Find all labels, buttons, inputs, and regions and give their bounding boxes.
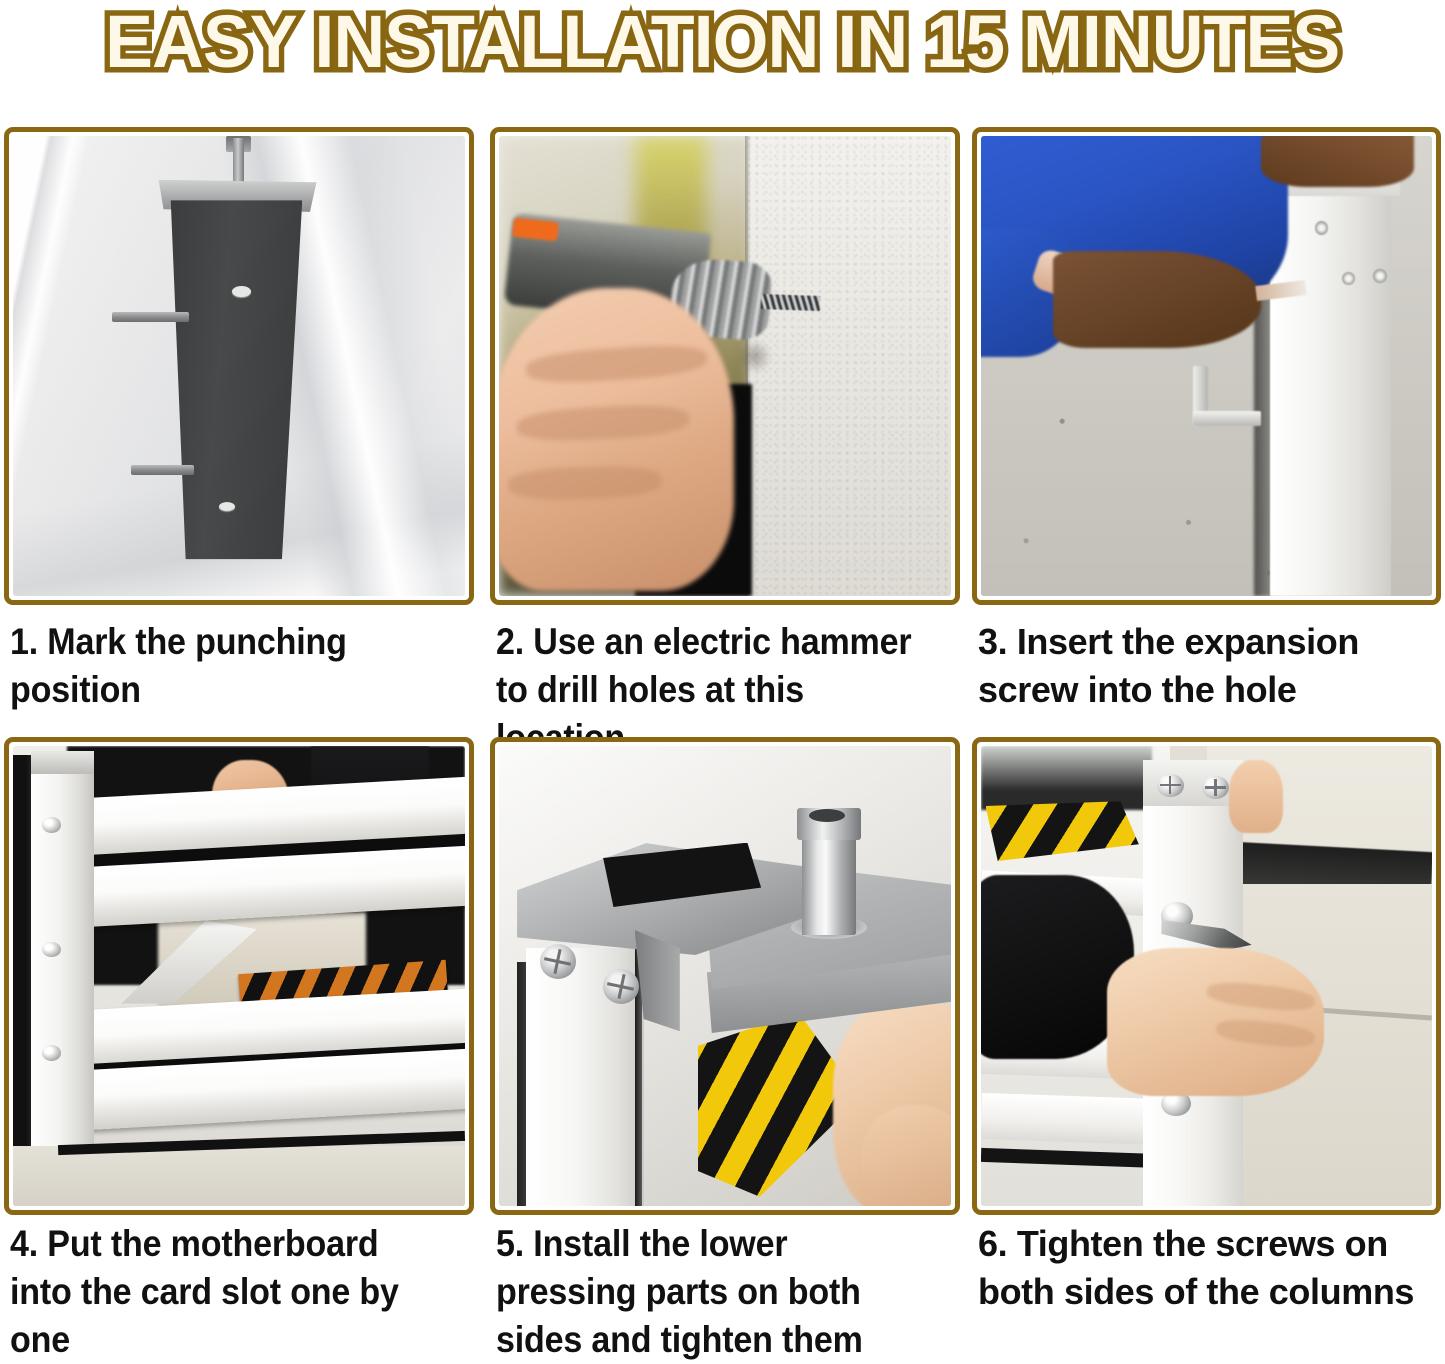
- floor-area: [13, 1146, 465, 1206]
- forearm-shape: [1053, 251, 1260, 348]
- step-3-photo-frame[interactable]: [972, 127, 1441, 605]
- step-card-3: 3. Insert the expansion screw into the h…: [972, 118, 1441, 728]
- mounting-hole-lower: [219, 502, 235, 511]
- stud-upper-shape: [112, 312, 189, 322]
- drill-bit-shape: [761, 294, 820, 311]
- top-screw-2: [1202, 776, 1229, 799]
- hand-shape: [1107, 948, 1323, 1095]
- column-post-shape: [31, 755, 94, 1178]
- step-card-5: 5. Install the lower pressing parts on b…: [490, 728, 960, 1352]
- steps-row-2: 4. Put the motherboard into the card slo…: [0, 728, 1445, 1352]
- page-title: EASY INSTALLATION IN 15 MINUTES: [105, 4, 1339, 80]
- fingers-shape: [861, 1105, 951, 1206]
- mounting-hole-upper: [232, 286, 251, 297]
- step-6-photo-tighten-screws: [981, 746, 1432, 1206]
- step-3-photo-expansion-screw: [981, 136, 1432, 596]
- step-3-caption: 3. Insert the expansion screw into the h…: [978, 618, 1437, 714]
- step-1-caption: 1. Mark the punching position: [10, 618, 433, 714]
- step-card-2: 2. Use an electric hammer to drill holes…: [490, 118, 960, 728]
- column-screw-2: [1373, 269, 1387, 283]
- step-card-1: 1. Mark the punching position: [4, 118, 474, 728]
- header-banner: EASY INSTALLATION IN 15 MINUTES: [0, 0, 1445, 118]
- step-2-photo-drilling-wall: [499, 136, 951, 596]
- barrier-board-3: [981, 1092, 1162, 1144]
- white-column-shape: [1270, 159, 1392, 596]
- stud-lower-shape: [131, 465, 194, 475]
- step-6-photo-frame[interactable]: [972, 737, 1441, 1215]
- step-card-4: 4. Put the motherboard into the card slo…: [4, 728, 474, 1352]
- step-card-6: 6. Tighten the screws on both sides of t…: [972, 728, 1441, 1352]
- textured-wall-surface: [748, 136, 951, 596]
- allen-key-icon: [1193, 366, 1261, 426]
- step-4-photo-boards-into-slot: [13, 746, 465, 1206]
- step-5-caption: 5. Install the lower pressing parts on b…: [496, 1220, 919, 1364]
- steps-row-1: 1. Mark the punching position: [0, 118, 1445, 728]
- step-5-photo-frame[interactable]: [490, 737, 960, 1215]
- top-screw-1: [1157, 774, 1184, 797]
- upper-hand-shape: [1261, 136, 1414, 187]
- phillips-screw-2: [603, 969, 639, 1004]
- step-4-caption: 4. Put the motherboard into the card slo…: [10, 1220, 433, 1364]
- upper-dark-background: [981, 746, 1152, 810]
- drill-dust-puff: [739, 338, 771, 375]
- step-1-photo-frame[interactable]: [4, 127, 474, 605]
- step-4-photo-frame[interactable]: [4, 737, 474, 1215]
- post-top-plate: [31, 751, 94, 774]
- step-2-photo-frame[interactable]: [490, 127, 960, 605]
- hand-shape: [499, 288, 734, 592]
- step-1-photo-bracket-plate: [13, 136, 465, 596]
- step-6-caption: 6. Tighten the screws on both sides of t…: [978, 1220, 1437, 1316]
- steps-grid: 1. Mark the punching position: [0, 118, 1445, 1352]
- step-5-photo-pressing-bracket: [499, 746, 951, 1206]
- phillips-screw-1: [540, 944, 576, 979]
- thumb-shape: [1229, 760, 1283, 834]
- post-screw-3: [42, 1045, 61, 1061]
- column-screw-1: [1315, 221, 1329, 235]
- bolt-shaft-shape: [233, 138, 245, 184]
